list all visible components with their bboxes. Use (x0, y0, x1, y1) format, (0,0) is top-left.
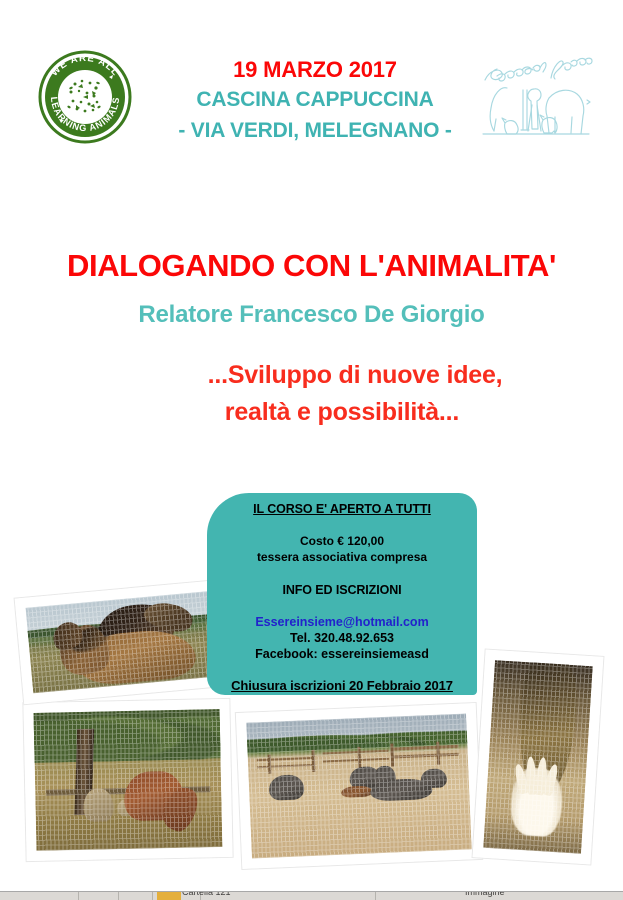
taskbar-item-left[interactable]: Cartella 121 (182, 891, 231, 897)
page-title: DIALOGANDO CON L'ANIMALITA' (0, 248, 623, 284)
photo-horses-tree (22, 698, 233, 862)
header-text-block: 19 MARZO 2017 CASCINA CAPPUCCINA - VIA V… (120, 56, 510, 146)
contact-facebook: Facebook: essereinsiemeasd (207, 646, 477, 662)
photo-horses-pair (14, 579, 233, 706)
cost-amount: Costo € 120,00 (207, 533, 477, 549)
essere-insieme-logo (477, 48, 595, 153)
event-address: - VIA VERDI, MELEGNANO - (120, 115, 510, 146)
tagline: ...Sviluppo di nuove idee, realtà e poss… (0, 357, 600, 431)
contact-phone: Tel. 320.48.92.653 (207, 630, 477, 646)
tagline-line-1: ...Sviluppo di nuove idee, (0, 357, 600, 394)
event-date: 19 MARZO 2017 (120, 56, 510, 84)
photo-hand (472, 648, 605, 865)
info-box-heading: IL CORSO E' APERTO A TUTTI (207, 502, 477, 516)
info-box: IL CORSO E' APERTO A TUTTI Costo € 120,0… (207, 493, 477, 695)
speaker-name: Relatore Francesco De Giorgio (0, 301, 623, 329)
contact-email-link[interactable]: Essereinsieme@hotmail.com (207, 614, 477, 630)
poster-canvas: WE ARE ALL LEARNING ANIMALS (0, 0, 623, 900)
info-box-subheading: INFO ED ISCRIZIONI (207, 583, 477, 597)
cost-note: tessera associativa compresa (207, 549, 477, 565)
info-box-contacts: Essereinsieme@hotmail.com Tel. 320.48.92… (207, 614, 477, 662)
poster-header: WE ARE ALL LEARNING ANIMALS (0, 0, 623, 175)
taskbar-item-mid[interactable]: Immagine (465, 891, 505, 897)
photo-donkeys (235, 702, 483, 870)
taskbar-sliver[interactable]: Cartella 121 Immagine Bozza Fiera in tea… (0, 891, 623, 900)
event-venue: CASCINA CAPPUCCINA (120, 84, 510, 115)
taskbar-accent (157, 892, 181, 900)
info-box-cost: Costo € 120,00 tessera associativa compr… (207, 533, 477, 565)
registration-deadline: Chiusura iscrizioni 20 Febbraio 2017 (207, 678, 477, 693)
tagline-line-2: realtà e possibilità... (0, 394, 600, 431)
